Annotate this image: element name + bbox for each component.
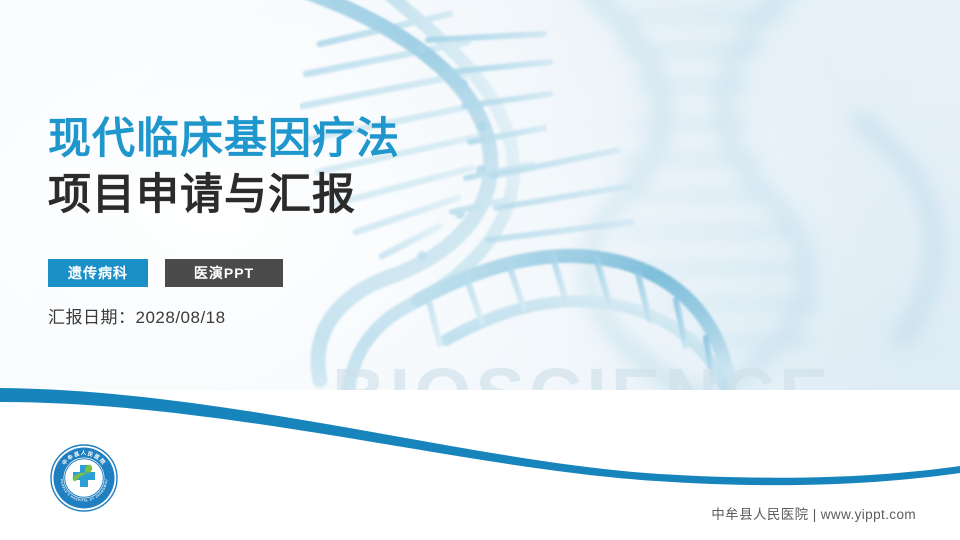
title-line-1: 现代临床基因疗法: [48, 112, 400, 166]
presentation-slide: BIOSCIENCE 现代临床基因疗法 项目申请与汇报 遗传病科 医演PPT 汇…: [0, 0, 960, 540]
report-date-label: 汇报日期：2028/08/18: [48, 303, 226, 328]
blue-sweep-divider: [0, 370, 960, 490]
title-line-2: 项目申请与汇报: [48, 168, 400, 222]
tag-badge-group: 遗传病科 医演PPT: [48, 259, 283, 287]
footer-credit: 中牟县人民医院 | www.yippt.com: [711, 503, 916, 523]
hospital-seal-logo: 中牟县人民医院 PEOPLE'S HOSPITAL OF ZHONGMOU: [49, 443, 119, 513]
title-block: 现代临床基因疗法 项目申请与汇报: [48, 112, 400, 222]
badge-department[interactable]: 遗传病科: [48, 259, 148, 287]
badge-template-source[interactable]: 医演PPT: [165, 259, 283, 287]
